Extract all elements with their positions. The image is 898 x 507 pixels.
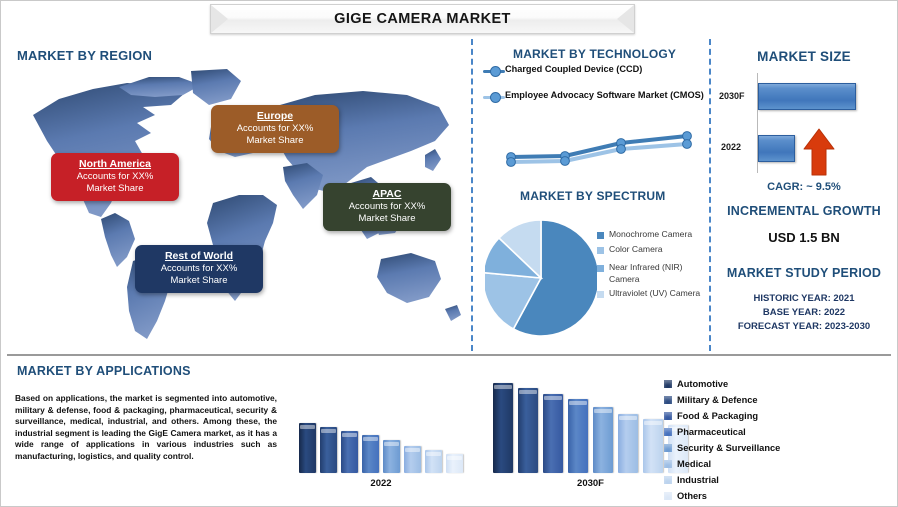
- map-pin-line1: Accounts for XX%: [219, 123, 331, 135]
- legend-item-military-defence[interactable]: Military & Defence: [664, 392, 889, 408]
- legend-label: Charged Coupled Device (CCD): [505, 63, 642, 75]
- section-title-technology: MARKET BY TECHNOLOGY: [513, 47, 676, 61]
- legend-swatch-icon: [664, 460, 672, 468]
- map-pin-line2: Market Share: [59, 183, 171, 195]
- legend-label: Pharmaceutical: [677, 427, 746, 437]
- legend-item-industrial[interactable]: Industrial: [664, 472, 889, 488]
- legend-label: Color Camera: [609, 244, 663, 256]
- legend-swatch-icon: [597, 291, 604, 298]
- bar-2030f-security-surveillance: [593, 407, 613, 473]
- legend-item-nir[interactable]: Near Infrared (NIR) Camera: [597, 262, 709, 285]
- market-size-bar-2022: [758, 135, 795, 162]
- legend-item-monochrome[interactable]: Monochrome Camera: [597, 229, 709, 241]
- map-pin-line1: Accounts for XX%: [331, 201, 443, 213]
- line-marker-icon: [483, 65, 505, 77]
- legend-label: Employee Advocacy Software Market (CMOS): [505, 89, 704, 101]
- axis-label-2030f: 2030F: [493, 478, 688, 489]
- legend-label: Military & Defence: [677, 395, 758, 405]
- bar-2030f-automotive: [493, 383, 513, 473]
- market-size-label-2022: 2022: [721, 142, 741, 152]
- applications-description: Based on applications, the market is seg…: [15, 393, 277, 463]
- legend-swatch-icon: [664, 396, 672, 404]
- section-title-region: MARKET BY REGION: [17, 48, 152, 63]
- study-period-historic: HISTORIC YEAR: 2021: [709, 293, 898, 304]
- bar-2022-others: [446, 454, 463, 473]
- line-marker-icon: [483, 91, 505, 103]
- legend-swatch-icon: [664, 492, 672, 500]
- study-period-base: BASE YEAR: 2022: [709, 307, 898, 318]
- bar-2030f-military-defence: [518, 388, 538, 473]
- map-pin-title: North America: [59, 158, 171, 171]
- incremental-growth-value: USD 1.5 BN: [709, 230, 898, 245]
- applications-legend: Automotive Military & Defence Food & Pac…: [664, 376, 889, 504]
- map-pin-europe[interactable]: Europe Accounts for XX% Market Share: [211, 105, 339, 153]
- legend-label: Ultraviolet (UV) Camera: [609, 288, 700, 300]
- bar-2030f-food-packaging: [543, 394, 563, 473]
- spectrum-legend: Monochrome Camera Color Camera Near Infr…: [597, 229, 709, 303]
- map-pin-line2: Market Share: [219, 135, 331, 147]
- map-pin-line1: Accounts for XX%: [143, 263, 255, 275]
- legend-swatch-icon: [597, 265, 604, 272]
- legend-item-security-surveillance[interactable]: Security & Surveillance: [664, 440, 889, 456]
- bar-2022-pharmaceutical: [362, 435, 379, 473]
- technology-legend: Charged Coupled Device (CCD) Employee Ad…: [483, 63, 705, 112]
- bar-2022-automotive: [299, 423, 316, 473]
- bar-2030f-pharmaceutical: [568, 399, 588, 473]
- legend-label: Others: [677, 491, 707, 501]
- page-title: GIGE CAMERA MARKET: [210, 4, 635, 34]
- legend-item-ccd[interactable]: Charged Coupled Device (CCD): [483, 63, 705, 77]
- legend-label: Medical: [677, 459, 711, 469]
- map-pin-title: Europe: [219, 110, 331, 123]
- legend-swatch-icon: [664, 476, 672, 484]
- legend-item-food-packaging[interactable]: Food & Packaging: [664, 408, 889, 424]
- map-pin-title: Rest of World: [143, 250, 255, 263]
- technology-line-chart: [499, 123, 699, 171]
- section-title-spectrum: MARKET BY SPECTRUM: [520, 189, 665, 203]
- legend-swatch-icon: [664, 428, 672, 436]
- infographic-root: GIGE CAMERA MARKET MARKET BY REGION: [0, 0, 898, 507]
- section-title-study-period: MARKET STUDY PERIOD: [709, 266, 898, 280]
- bar-2030f-medical: [618, 414, 638, 473]
- world-map: Europe Accounts for XX% Market Share Nor…: [15, 63, 463, 351]
- section-title-incremental-growth: INCREMENTAL GROWTH: [709, 204, 898, 218]
- divider-horizontal: [7, 354, 891, 356]
- legend-swatch-icon: [597, 247, 604, 254]
- bar-2022-industrial: [425, 450, 442, 473]
- legend-label: Industrial: [677, 475, 719, 485]
- legend-label: Automotive: [677, 379, 728, 389]
- legend-item-automotive[interactable]: Automotive: [664, 376, 889, 392]
- legend-swatch-icon: [664, 412, 672, 420]
- map-pin-line2: Market Share: [331, 213, 443, 225]
- legend-item-others[interactable]: Others: [664, 488, 889, 504]
- map-pin-north-america[interactable]: North America Accounts for XX% Market Sh…: [51, 153, 179, 201]
- market-size-label-2030: 2030F: [719, 91, 745, 101]
- map-pin-line2: Market Share: [143, 275, 255, 287]
- legend-label: Monochrome Camera: [609, 229, 692, 241]
- legend-swatch-icon: [664, 444, 672, 452]
- map-pin-apac[interactable]: APAC Accounts for XX% Market Share: [323, 183, 451, 231]
- legend-item-cmos[interactable]: Employee Advocacy Software Market (CMOS): [483, 89, 705, 103]
- bar-2030f-industrial: [643, 419, 663, 473]
- legend-item-pharmaceutical[interactable]: Pharmaceutical: [664, 424, 889, 440]
- cagr-label: CAGR: ~ 9.5%: [709, 181, 898, 193]
- section-title-market-size: MARKET SIZE: [709, 49, 898, 64]
- legend-swatch-icon: [664, 380, 672, 388]
- map-pin-rest-of-world[interactable]: Rest of World Accounts for XX% Market Sh…: [135, 245, 263, 293]
- study-period-forecast: FORECAST YEAR: 2023-2030: [709, 321, 898, 332]
- applications-bar-chart: [297, 379, 657, 473]
- legend-item-uv[interactable]: Ultraviolet (UV) Camera: [597, 288, 709, 300]
- divider-vertical-right: [709, 39, 711, 351]
- map-pin-line1: Accounts for XX%: [59, 171, 171, 183]
- growth-arrow-up-icon: [801, 127, 837, 179]
- map-pin-title: APAC: [331, 188, 443, 201]
- axis-label-2022: 2022: [297, 478, 465, 489]
- bar-2022-food-packaging: [341, 431, 358, 473]
- spectrum-pie-chart: [485, 217, 597, 339]
- legend-item-medical[interactable]: Medical: [664, 456, 889, 472]
- bar-2022-medical: [404, 446, 421, 473]
- bar-2022-military-defence: [320, 427, 337, 473]
- divider-vertical-left: [471, 39, 473, 351]
- title-ribbon: GIGE CAMERA MARKET: [210, 4, 635, 34]
- legend-swatch-icon: [597, 232, 604, 239]
- legend-label: Food & Packaging: [677, 411, 758, 421]
- legend-label: Security & Surveillance: [677, 443, 780, 453]
- market-size-bar-2030: [758, 83, 856, 110]
- bar-2022-security-surveillance: [383, 440, 400, 473]
- section-title-applications: MARKET BY APPLICATIONS: [17, 364, 191, 378]
- legend-item-color[interactable]: Color Camera: [597, 244, 709, 256]
- legend-label: Near Infrared (NIR) Camera: [609, 262, 709, 285]
